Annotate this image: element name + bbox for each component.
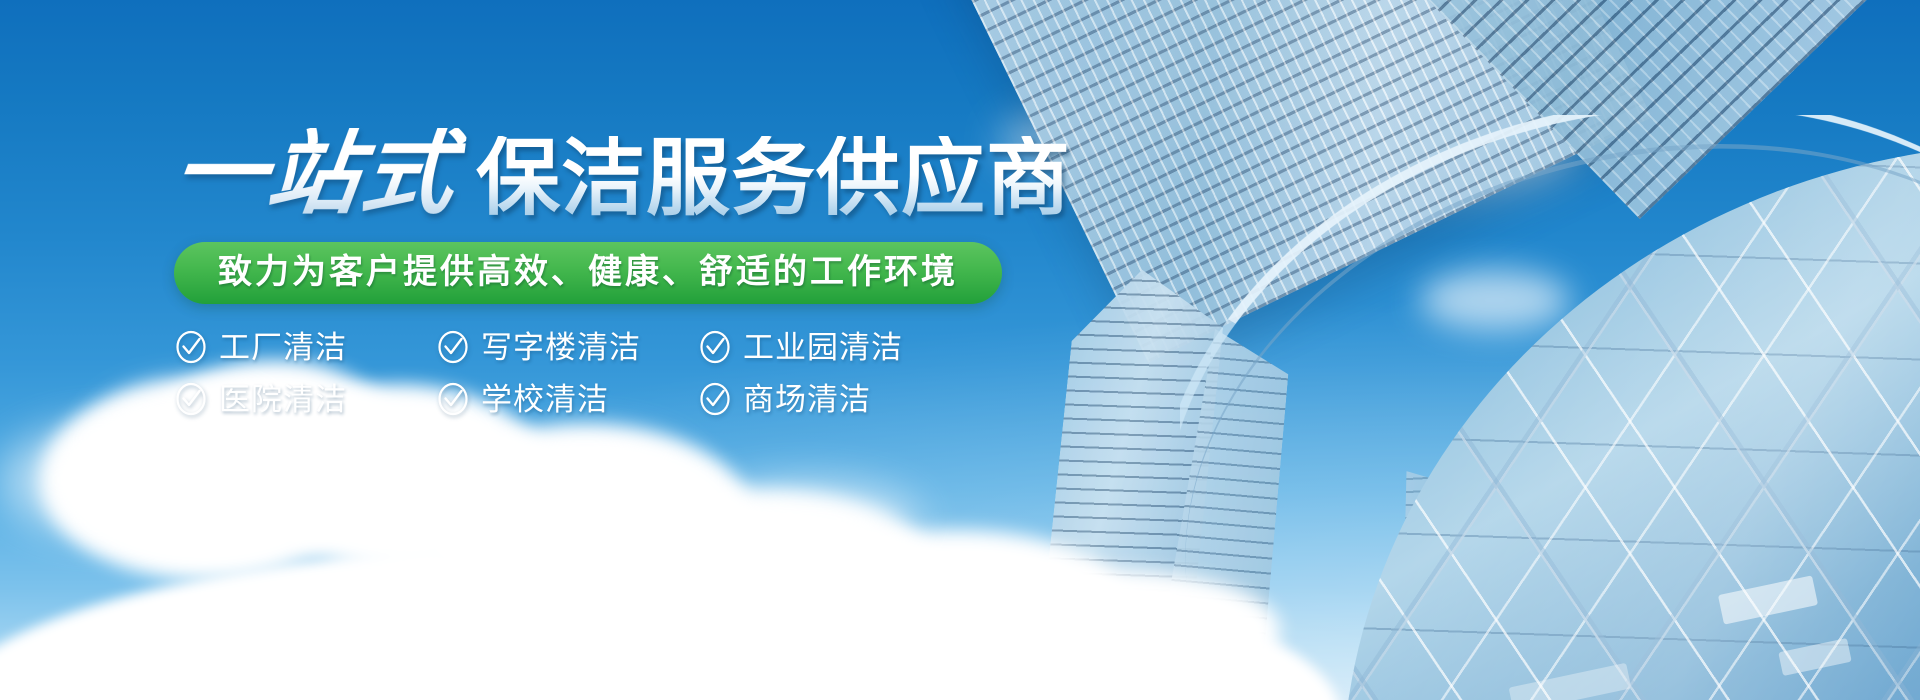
- cloud-puff: [480, 435, 690, 525]
- check-circle-icon: [436, 382, 470, 416]
- feature-item-mall-cleaning[interactable]: 商场清洁: [698, 382, 960, 416]
- feature-item-hospital-cleaning[interactable]: 医院清洁: [174, 382, 436, 416]
- check-circle-icon: [174, 330, 208, 364]
- check-circle-icon: [174, 382, 208, 416]
- check-circle-icon: [698, 382, 732, 416]
- feature-item-industrial-park-cleaning[interactable]: 工业园清洁: [698, 330, 960, 364]
- feature-row: 工厂清洁 写字楼清洁 工业园清洁: [174, 330, 1174, 364]
- check-circle-icon: [698, 330, 732, 364]
- banner-copy-block: 一站式 保洁服务供应商 致力为客户提供高效、健康、舒适的工作环境 工厂清洁: [174, 112, 1174, 434]
- check-circle-icon: [436, 330, 470, 364]
- feature-item-school-cleaning[interactable]: 学校清洁: [436, 382, 698, 416]
- dome-leading-edge-shadow: [1180, 115, 1920, 700]
- headline-brush-text: 一站式: [168, 128, 467, 220]
- cloud-puff: [950, 570, 1280, 690]
- headline-block-text: 保洁服务供应商: [476, 136, 1071, 220]
- hero-banner: 一站式 保洁服务供应商 致力为客户提供高效、健康、舒适的工作环境 工厂清洁: [0, 0, 1920, 700]
- feature-label: 写字楼清洁: [481, 332, 641, 363]
- feature-label: 工业园清洁: [743, 332, 903, 363]
- triangulated-glass-dome: [1180, 115, 1920, 700]
- cloud-puff: [0, 425, 200, 535]
- feature-row: 医院清洁 学校清洁 商场清洁: [174, 382, 1174, 416]
- feature-item-office-building-cleaning[interactable]: 写字楼清洁: [436, 330, 698, 364]
- headline: 一站式 保洁服务供应商: [174, 112, 1174, 220]
- feature-label: 学校清洁: [481, 384, 609, 415]
- cloud-puff: [690, 480, 920, 560]
- feature-label: 医院清洁: [219, 384, 347, 415]
- feature-label: 工厂清洁: [219, 332, 347, 363]
- feature-label: 商场清洁: [743, 384, 871, 415]
- tagline-text: 致力为客户提供高效、健康、舒适的工作环境: [218, 253, 958, 291]
- tagline-pill: 致力为客户提供高效、健康、舒适的工作环境: [174, 242, 1002, 304]
- feature-list: 工厂清洁 写字楼清洁 工业园清洁: [174, 330, 1174, 416]
- feature-item-factory-cleaning[interactable]: 工厂清洁: [174, 330, 436, 364]
